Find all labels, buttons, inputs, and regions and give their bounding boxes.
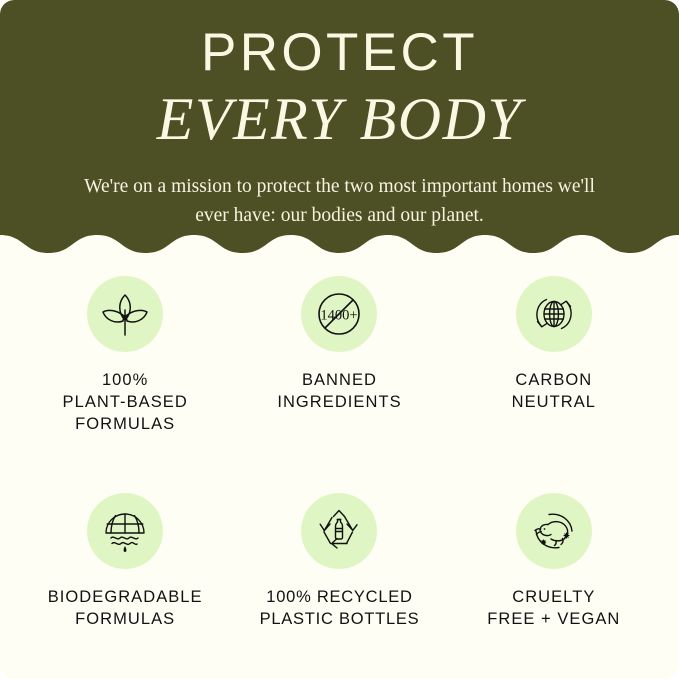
values-grid: 100% PLANT-BASED FORMULAS 1400+ BANNED I…: [0, 276, 679, 631]
page-title-line2: EVERY BODY: [0, 86, 679, 153]
banned-1400-plus-icon: 1400+: [313, 288, 365, 340]
leaf-plant-icon: [99, 288, 151, 340]
page-title-line1: PROTECT: [0, 26, 679, 80]
value-label: 100% RECYCLED PLASTIC BOTTLES: [260, 587, 420, 631]
badge-circle: [516, 276, 592, 352]
globe-water-drop-icon: [99, 505, 151, 557]
brand-values-card: PROTECT EVERY BODY We're on a mission to…: [0, 0, 679, 679]
badge-circle: [87, 493, 163, 569]
value-label: CARBON NEUTRAL: [512, 370, 596, 414]
value-label: BANNED INGREDIENTS: [277, 370, 401, 414]
cruelty-free-rabbit-icon: [528, 505, 580, 557]
header-subtitle: We're on a mission to protect the two mo…: [63, 173, 617, 230]
banned-count-text: 1400+: [321, 308, 358, 324]
header-banner: PROTECT EVERY BODY We're on a mission to…: [0, 0, 679, 256]
value-label: BIODEGRADABLE FORMULAS: [48, 587, 203, 631]
badge-circle: [516, 493, 592, 569]
badge-circle: [87, 276, 163, 352]
value-item-banned-ingredients: 1400+ BANNED INGREDIENTS: [232, 276, 446, 436]
value-label: CRUELTY FREE + VEGAN: [487, 587, 620, 631]
value-item-biodegradable: BIODEGRADABLE FORMULAS: [18, 493, 232, 631]
badge-circle: [301, 493, 377, 569]
value-item-recycled-bottles: 100% RECYCLED PLASTIC BOTTLES: [232, 493, 446, 631]
value-label: 100% PLANT-BASED FORMULAS: [63, 370, 188, 436]
recycle-bottle-icon: [313, 505, 365, 557]
badge-circle: 1400+: [301, 276, 377, 352]
header-content: PROTECT EVERY BODY We're on a mission to…: [0, 0, 679, 230]
value-item-carbon-neutral: CARBON NEUTRAL: [447, 276, 661, 436]
globe-carbon-loop-icon: [528, 288, 580, 340]
value-item-cruelty-free: CRUELTY FREE + VEGAN: [447, 493, 661, 631]
value-item-plant-based: 100% PLANT-BASED FORMULAS: [18, 276, 232, 436]
